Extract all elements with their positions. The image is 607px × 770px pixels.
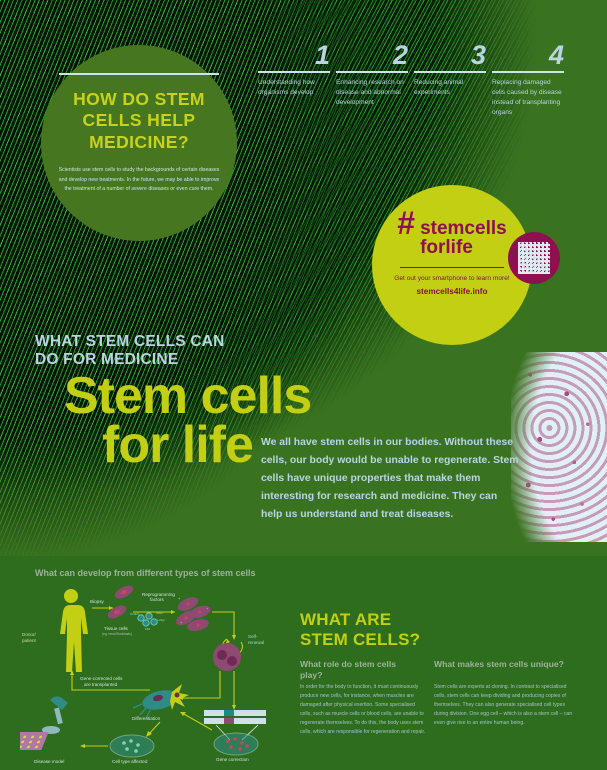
label-tissue-cells: Tissue cells xyxy=(104,626,129,631)
factor-label-3: Klf4 xyxy=(145,627,151,631)
numbered-item-1-text: Understanding how organisms develop xyxy=(258,78,330,98)
what-are-title-line-1: WHAT ARE xyxy=(300,610,391,629)
numbered-item-4: 4 Replacing damaged cells caused by dise… xyxy=(492,42,570,118)
arrow-to-stem-cell xyxy=(212,612,234,638)
label-disease-model: Disease model xyxy=(34,759,64,764)
masthead-kicker: WHAT STEM CELLS CAN DO FOR MEDICINE xyxy=(35,333,225,370)
number-4: 4 xyxy=(492,42,564,69)
numbered-item-2: 2 Enhancing research on disease and abno… xyxy=(336,42,414,118)
hashtag-line: # stemcells forlife xyxy=(397,209,506,258)
qr-code-icon[interactable] xyxy=(518,242,550,274)
what-are-stem-cells-title: WHAT ARE STEM CELLS? xyxy=(300,610,420,649)
arrow-transplant-back xyxy=(72,672,150,690)
label-affected-cells-1: Cell type affected xyxy=(112,759,148,764)
label-tissue-cells-note: (eg. renal fibroblasts) xyxy=(102,632,132,636)
number-rule xyxy=(336,71,408,73)
numbered-item-1: 1 Understanding how organisms develop xyxy=(258,42,336,118)
factor-label-0: Oct3/4 xyxy=(130,612,139,616)
diagram-title: What can develop from different types of… xyxy=(35,568,256,578)
svg-text:+: + xyxy=(178,596,181,601)
label-donor-patient: Donor/ xyxy=(22,632,37,637)
background-histology-image xyxy=(511,352,607,542)
numbered-item-2-text: Enhancing research on disease and abnorm… xyxy=(336,78,408,109)
poster-root: HOW DO STEM CELLS HELP MEDICINE? Scienti… xyxy=(0,0,607,770)
hashtag-word-2: forlife xyxy=(420,237,473,258)
numbered-item-4-text: Replacing damaged cells caused by diseas… xyxy=(492,78,564,119)
hash-symbol-icon: # xyxy=(397,209,415,238)
qr-code-badge[interactable] xyxy=(508,232,560,284)
hero-title: HOW DO STEM CELLS HELP MEDICINE? xyxy=(55,89,223,153)
number-rule xyxy=(414,71,486,73)
hashtag-cta-text: Get out your smartphone to learn more! xyxy=(394,274,509,284)
number-3: 3 xyxy=(414,42,486,69)
hashtag-word-1: stemcells xyxy=(420,218,507,239)
column-2-heading: What makes stem cells unique? xyxy=(434,659,564,670)
column-2-body: Stem cells are experts at cloning. In co… xyxy=(434,683,574,728)
label-reprogramming-2: factors xyxy=(150,597,164,602)
number-rule xyxy=(492,71,564,73)
hero-circle: HOW DO STEM CELLS HELP MEDICINE? Scienti… xyxy=(41,45,237,241)
affected-cell-dish-icon xyxy=(110,735,154,757)
numbered-item-3-text: Reducing animal experiments xyxy=(414,78,486,98)
arrow-to-differentiation xyxy=(180,671,220,698)
reprogrammed-cell-cluster: + + + xyxy=(174,594,212,633)
numbered-item-3: 3 Reducing animal experiments xyxy=(414,42,492,118)
factor-label-1: Sox2 xyxy=(156,611,163,615)
label-gene-correction: Gene correction xyxy=(216,757,249,762)
label-donor-patient-2: patient xyxy=(22,638,37,643)
label-gene-corrected-2: are transplanted xyxy=(84,682,118,687)
stem-cell-cycle-diagram: Donor/ patient Biopsy Tissue cells (eg. … xyxy=(20,580,310,765)
masthead-kicker-line-2: DO FOR MEDICINE xyxy=(35,351,178,368)
what-are-title-line-2: STEM CELLS? xyxy=(300,630,420,649)
masthead-kicker-line-1: WHAT STEM CELLS CAN xyxy=(35,333,225,350)
hero-divider xyxy=(59,73,219,75)
column-1-body: In order for the body to function, it mu… xyxy=(300,683,426,737)
label-self-renewal-2: renewal xyxy=(248,640,264,645)
differentiated-cells-icon xyxy=(133,684,189,719)
label-gene-corrected-1: Gene-corrected cells xyxy=(80,676,123,681)
gene-correction-icon xyxy=(204,710,266,755)
label-biopsy: Biopsy xyxy=(90,599,104,604)
reprogramming-factor-icons: Oct3/4 Sox2 c-Myc Klf4 xyxy=(130,611,165,631)
column-1-heading: What role do stem cells play? xyxy=(300,659,420,681)
donor-patient-icon xyxy=(60,589,88,672)
pluripotent-stem-cell-icon xyxy=(213,643,241,671)
numbered-benefits-list: 1 Understanding how organisms develop 2 … xyxy=(258,42,598,118)
factor-label-2: c-Myc xyxy=(157,618,165,622)
label-differentiation: Differentiation xyxy=(132,716,161,721)
hashtag-url[interactable]: stemcells4life.info xyxy=(417,287,488,296)
hashtag-divider xyxy=(400,267,504,268)
number-1: 1 xyxy=(258,42,330,69)
disease-model-icon xyxy=(20,696,68,750)
number-rule xyxy=(258,71,330,73)
hashtag-words: stemcells forlife xyxy=(420,219,507,258)
masthead-lead-paragraph: We all have stem cells in our bodies. Wi… xyxy=(261,434,521,523)
number-2: 2 xyxy=(336,42,408,69)
hero-body-text: Scientists use stem cells to study the b… xyxy=(55,166,223,195)
label-self-renewal-1: Self- xyxy=(248,634,258,639)
